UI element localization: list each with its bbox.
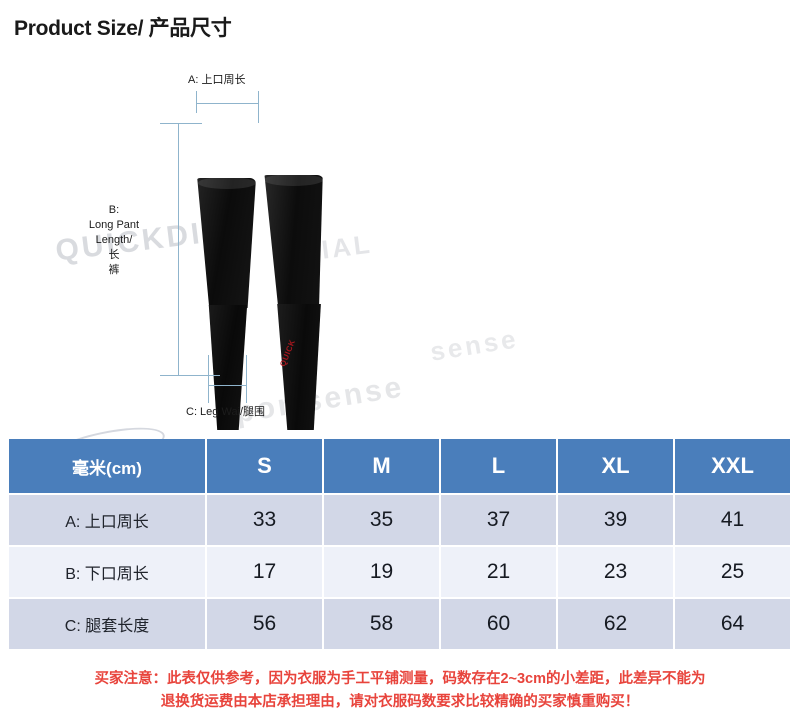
leg-sleeve-right-upper [262, 175, 324, 307]
product-diagram: QUICKDIAL DIAL sportsense sense quick QU… [0, 55, 800, 430]
guide-b-top-tick [160, 123, 202, 124]
measure-label-c: C: Leg Wai/腿围 [186, 405, 265, 420]
measure-label-b-line2: Long Pant [75, 218, 153, 233]
row-label-a: A: 上口周长 [9, 495, 205, 545]
guide-b-span [178, 123, 179, 375]
guide-a-left-tick [196, 91, 197, 113]
table-row: B: 下口周长 17 19 21 23 25 [9, 547, 790, 597]
column-header-l: L [441, 439, 556, 493]
cell-a-xxl: 41 [675, 495, 790, 545]
cell-c-s: 56 [207, 599, 322, 649]
column-header-xl: XL [558, 439, 673, 493]
measure-label-b-line4: 长 [75, 248, 153, 263]
row-label-b: B: 下口周长 [9, 547, 205, 597]
row-label-c: C: 腿套长度 [9, 599, 205, 649]
buyer-notice-line1: 买家注意：此表仅供参考，因为衣服为手工平铺测量，码数存在2~3cm的小差距，此差… [0, 668, 800, 691]
column-header-m: M [324, 439, 439, 493]
cell-b-s: 17 [207, 547, 322, 597]
cell-b-l: 21 [441, 547, 556, 597]
cell-a-m: 35 [324, 495, 439, 545]
cell-c-xxl: 64 [675, 599, 790, 649]
guide-a-span [196, 103, 259, 104]
leg-sleeve-left-upper [196, 178, 256, 308]
guide-c-left-tick [208, 355, 209, 403]
cell-b-m: 19 [324, 547, 439, 597]
measure-label-a: A: 上口周长 [188, 73, 245, 88]
buyer-notice: 买家注意：此表仅供参考，因为衣服为手工平铺测量，码数存在2~3cm的小差距，此差… [0, 668, 800, 714]
size-table-header-row: 毫米(cm) S M L XL XXL [9, 439, 790, 493]
column-header-s: S [207, 439, 322, 493]
size-table: 毫米(cm) S M L XL XXL A: 上口周长 33 35 37 39 … [7, 437, 792, 651]
measure-label-b-line5: 裤 [75, 263, 153, 278]
table-row: A: 上口周长 33 35 37 39 41 [9, 495, 790, 545]
guide-c-right-tick [246, 355, 247, 403]
cell-c-xl: 62 [558, 599, 673, 649]
size-table-body: A: 上口周长 33 35 37 39 41 B: 下口周长 17 19 21 … [9, 495, 790, 649]
table-row: C: 腿套长度 56 58 60 62 64 [9, 599, 790, 649]
column-header-xxl: XXL [675, 439, 790, 493]
cell-c-m: 58 [324, 599, 439, 649]
guide-c-span [208, 385, 247, 386]
cuff-highlight-right [264, 174, 323, 186]
column-header-unit: 毫米(cm) [9, 439, 205, 493]
page-title: Product Size/ 产品尺寸 [14, 12, 231, 42]
guide-a-right-tick [258, 91, 259, 123]
buyer-notice-line2: 退换货运费由本店承担理由，请对衣服码数要求比较精确的买家慎重购买！ [0, 691, 800, 714]
cell-a-xl: 39 [558, 495, 673, 545]
cuff-highlight-left [198, 177, 256, 189]
cell-b-xxl: 25 [675, 547, 790, 597]
size-table-head: 毫米(cm) S M L XL XXL [9, 439, 790, 493]
cell-c-l: 60 [441, 599, 556, 649]
measure-label-b-line1: B: [75, 203, 153, 218]
watermark-text: sense [428, 323, 520, 367]
measure-label-b-line3: Length/ [75, 233, 153, 248]
measure-label-b: B: Long Pant Length/ 长 裤 [75, 203, 153, 278]
cell-a-s: 33 [207, 495, 322, 545]
cell-b-xl: 23 [558, 547, 673, 597]
guide-b-bottom-tick [160, 375, 220, 376]
cell-a-l: 37 [441, 495, 556, 545]
